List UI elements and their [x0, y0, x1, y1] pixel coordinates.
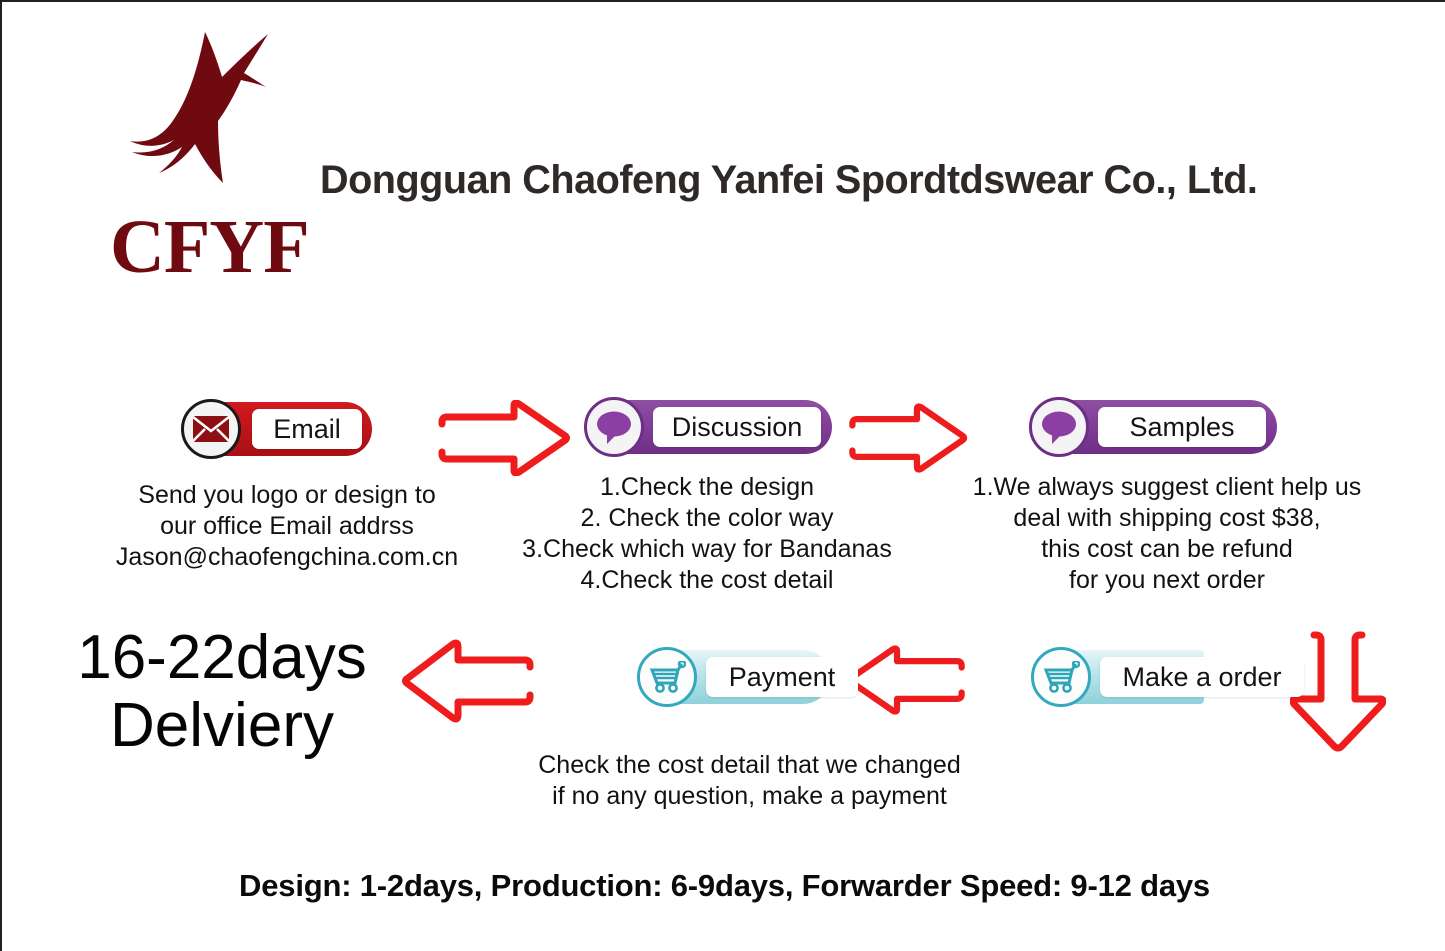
desc-line: 2. Check the color way — [512, 503, 902, 534]
desc-line: 3.Check which way for Bandanas — [512, 534, 902, 565]
arrow-left-icon — [400, 638, 536, 724]
desc-line: 1.We always suggest client help us — [957, 472, 1377, 503]
step-label-samples: Samples — [1098, 407, 1266, 447]
company-title: Dongguan Chaofeng Yanfei Spordtdswear Co… — [320, 158, 1369, 203]
step-desc-discussion: 1.Check the design 2. Check the color wa… — [512, 472, 902, 596]
desc-line: our office Email addrss — [97, 511, 477, 542]
desc-line: Check the cost detail that we changed — [502, 750, 997, 781]
header: CFYF Dongguan Chaofeng Yanfei Spordtdswe… — [2, 2, 1445, 292]
company-logo: CFYF — [102, 24, 317, 279]
shopping-cart-icon — [1031, 647, 1091, 707]
arrow-left-icon — [845, 640, 967, 720]
step-badge-make-a-order[interactable]: Make a order — [1034, 650, 1204, 704]
step-badge-discussion[interactable]: Discussion — [587, 400, 832, 454]
speech-bubble-icon — [584, 397, 644, 457]
speech-bubble-icon — [1029, 397, 1089, 457]
footer-summary: Design: 1-2days, Production: 6-9days, Fo… — [2, 868, 1445, 904]
desc-line: if no any question, make a payment — [502, 781, 997, 812]
step-badge-samples[interactable]: Samples — [1032, 400, 1277, 454]
flying-bird-logo-icon — [102, 24, 317, 194]
desc-line: 1.Check the design — [512, 472, 902, 503]
arrow-down-icon — [1290, 627, 1386, 753]
delivery-line: 16-22days — [42, 624, 402, 692]
step-badge-email[interactable]: Email — [184, 402, 372, 456]
desc-line: Send you logo or design to — [97, 480, 477, 511]
process-flow-infographic: CFYF Dongguan Chaofeng Yanfei Spordtdswe… — [0, 0, 1445, 951]
step-desc-samples: 1.We always suggest client help us deal … — [957, 472, 1377, 596]
desc-line: for you next order — [957, 565, 1377, 596]
desc-line: deal with shipping cost $38, — [957, 503, 1377, 534]
step-label-payment: Payment — [706, 657, 858, 697]
logo-wordmark: CFYF — [110, 209, 309, 285]
envelope-icon — [181, 399, 241, 459]
step-desc-payment: Check the cost detail that we changed if… — [502, 750, 997, 812]
arrow-right-icon — [436, 400, 572, 476]
shopping-cart-icon — [637, 647, 697, 707]
desc-line: this cost can be refund — [957, 534, 1377, 565]
delivery-line: Delviery — [42, 692, 402, 760]
desc-line: Jason@chaofengchina.com.cn — [97, 542, 477, 573]
step-label-make-a-order: Make a order — [1100, 657, 1304, 697]
delivery-time-callout: 16-22days Delviery — [42, 624, 402, 760]
step-label-discussion: Discussion — [653, 407, 821, 447]
step-badge-payment[interactable]: Payment — [640, 650, 830, 704]
desc-line: 4.Check the cost detail — [512, 565, 902, 596]
step-label-email: Email — [252, 409, 362, 449]
arrow-right-icon — [847, 400, 969, 476]
step-desc-email: Send you logo or design to our office Em… — [97, 480, 477, 573]
